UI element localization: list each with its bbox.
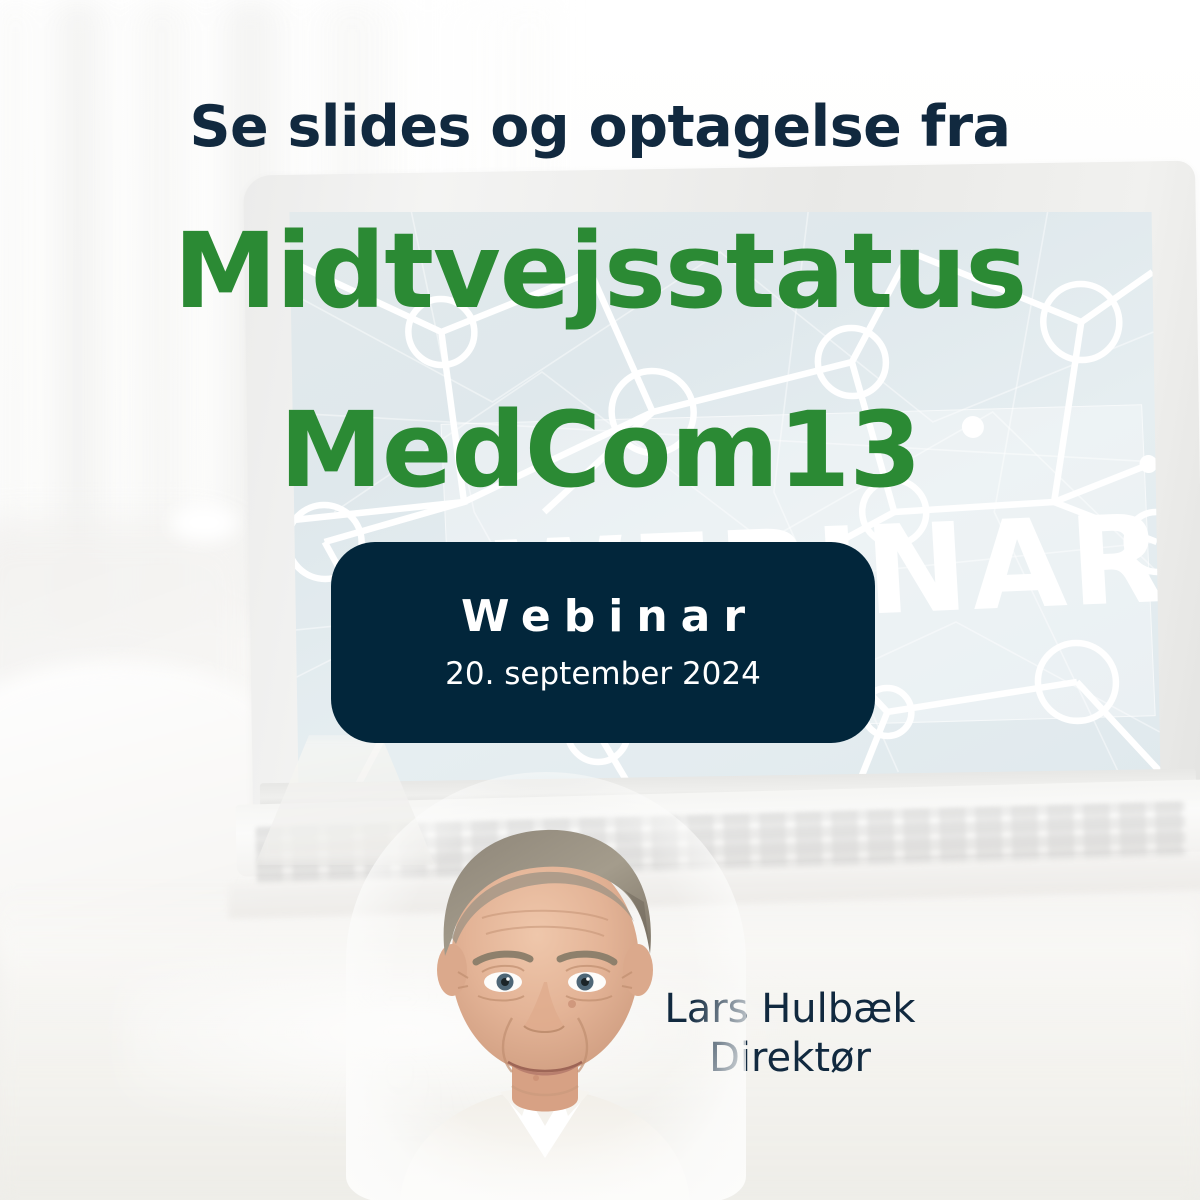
poster-title-line-1: Midtvejsstatus bbox=[0, 219, 1200, 323]
speaker-name: Lars Hulbæk bbox=[590, 985, 990, 1034]
background-highlight bbox=[170, 505, 238, 541]
webinar-badge-date: 20. september 2024 bbox=[445, 659, 761, 690]
poster-kicker: Se slides og optagelse fra bbox=[0, 99, 1200, 156]
webinar-promo-poster: WEBINAR Se slides og optagelse fra Midtv… bbox=[0, 0, 1200, 1200]
speaker-role: Direktør bbox=[590, 1034, 990, 1083]
webinar-badge-label: Webinar bbox=[448, 595, 758, 639]
webinar-badge: Webinar 20. september 2024 bbox=[331, 542, 875, 743]
speaker-caption: Lars Hulbæk Direktør bbox=[590, 985, 990, 1083]
poster-title-line-2: MedCom13 bbox=[0, 398, 1200, 502]
